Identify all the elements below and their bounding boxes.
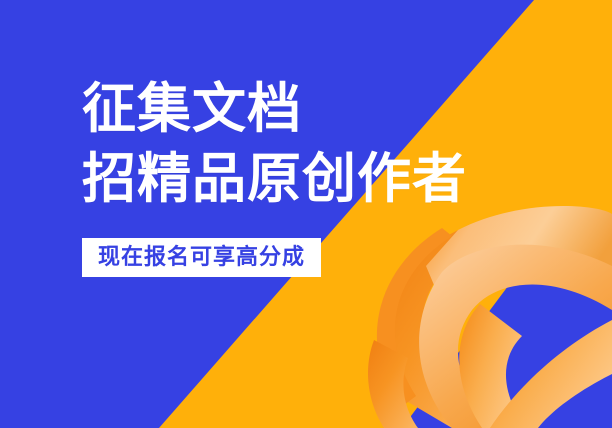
promo-banner: 征集文档 招精品原创作者 现在报名可享高分成 [0,0,612,428]
signup-cta-button[interactable]: 现在报名可享高分成 [82,238,321,277]
headline-group: 征集文档 招精品原创作者 现在报名可享高分成 [82,74,467,277]
headline-line-1: 征集文档 [82,74,467,144]
headline-line-2: 招精品原创作者 [82,144,467,214]
